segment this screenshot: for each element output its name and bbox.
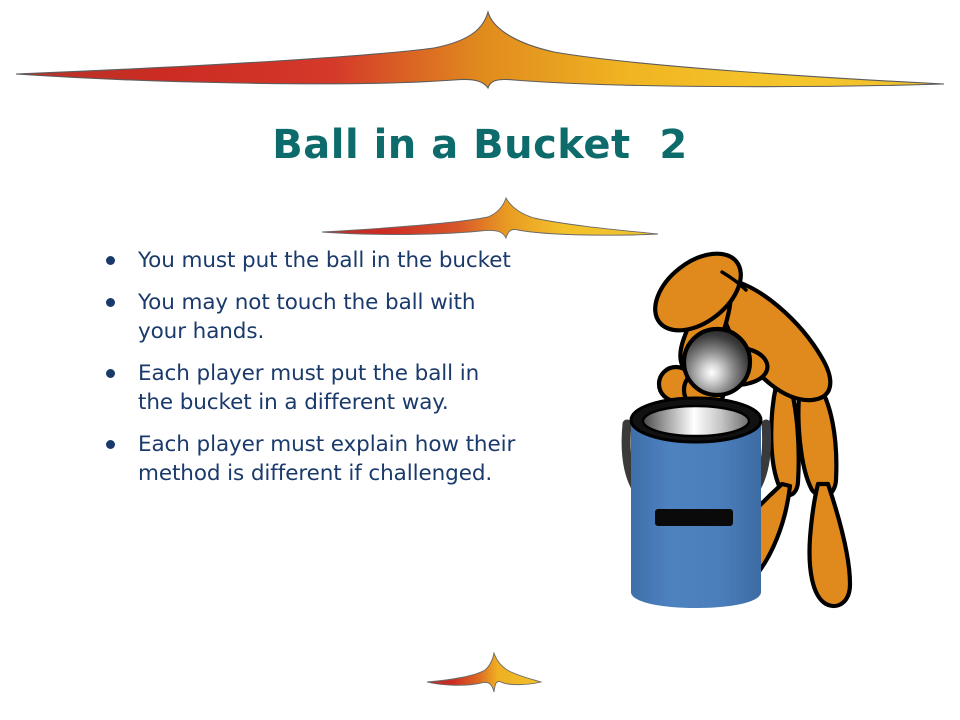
bucket-handle-grip: [656, 510, 732, 525]
page-title: Ball in a Bucket 2: [0, 122, 960, 168]
bullet-list: You must put the ball in the bucket You …: [98, 246, 518, 488]
bullet-dot-icon: [106, 256, 115, 265]
bottom-diamond-ornament: [425, 652, 543, 706]
list-item: Each player must explain how their metho…: [98, 430, 518, 488]
figure-right-shin-foot: [810, 484, 850, 606]
bullet-dot-icon: [106, 440, 115, 449]
ball: [684, 329, 750, 395]
bullet-dot-icon: [106, 298, 115, 307]
list-item-text: You may not touch the ball with your han…: [138, 290, 475, 344]
bullet-dot-icon: [106, 369, 115, 378]
list-item: Each player must put the ball in the buc…: [98, 359, 518, 417]
list-item: You may not touch the ball with your han…: [98, 288, 518, 346]
list-item-text: Each player must put the ball in the buc…: [138, 361, 479, 415]
slide-canvas: Ball in a Bucket 2 You must put the ball…: [0, 0, 960, 720]
top-diamond-ornament: [14, 8, 946, 92]
bucket-rim-inner: [643, 406, 749, 436]
list-item-text: Each player must explain how their metho…: [138, 432, 515, 486]
list-item: You must put the ball in the bucket: [98, 246, 518, 275]
person-placing-ball-in-bucket-illustration: [600, 228, 960, 630]
list-item-text: You must put the ball in the bucket: [138, 248, 511, 273]
